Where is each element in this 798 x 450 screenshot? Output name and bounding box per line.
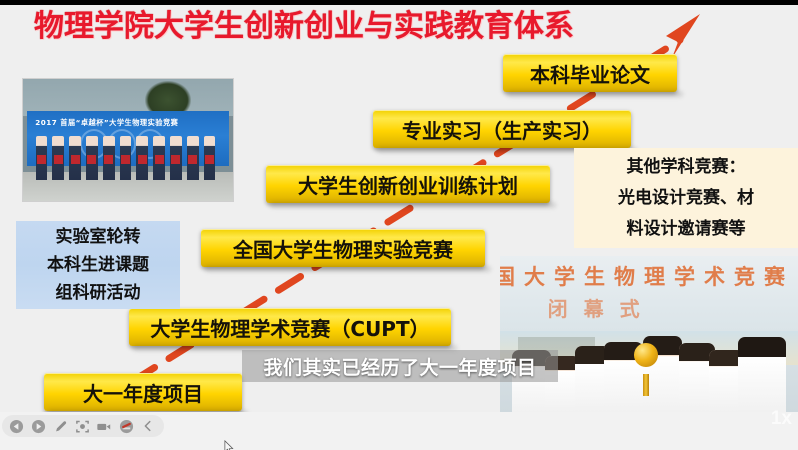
plaque-label: 大一年度项目	[83, 378, 203, 407]
photo-left-banner-text: 2017 首届“卓越杯”大学生物理实验竞赛	[35, 118, 220, 133]
pencil-icon[interactable]	[52, 418, 68, 434]
plaque-thesis[interactable]: 本科毕业论文	[503, 54, 677, 92]
previous-button[interactable]	[8, 418, 24, 434]
lab-box-line-2: 本科生进课题	[47, 251, 149, 279]
lab-box-line-1: 实验室轮转	[56, 223, 141, 251]
plaque-cupt[interactable]: 大学生物理学术竞赛（CUPT）	[129, 308, 451, 346]
photo-cupt-ceremony: 国大学生物理学术竞赛 闭幕式	[500, 256, 798, 412]
photo-person	[170, 136, 182, 180]
page-title: 物理学院大学生创新创业与实践教育体系	[34, 7, 634, 47]
slide-canvas: 物理学院大学生创新创业与实践教育体系 2017 首届“卓越杯”大学生物理实验竞赛	[0, 0, 798, 412]
photo-person	[187, 136, 199, 180]
plaque-label: 大学生物理学术竞赛（CUPT）	[150, 313, 429, 342]
letterbox-strip	[0, 0, 798, 5]
play-button[interactable]	[30, 418, 46, 434]
photo-experiment-competition: 2017 首届“卓越杯”大学生物理实验竞赛	[22, 78, 234, 202]
photo-person	[52, 136, 64, 180]
photo-person	[153, 136, 165, 180]
photo-right-banner-text2: 闭幕式	[548, 293, 656, 322]
trophy-icon	[634, 343, 658, 396]
photo-person	[204, 136, 216, 180]
other-box-line-3: 料设计邀请赛等	[627, 214, 746, 245]
photo-person	[103, 136, 115, 180]
photo-person	[738, 337, 786, 412]
other-box-line-2: 光电设计竞赛、材	[618, 183, 754, 214]
marker-circle-icon[interactable]	[118, 418, 134, 434]
mouse-cursor	[224, 440, 234, 450]
photo-person	[86, 136, 98, 180]
lab-box-line-3: 组科研活动	[56, 279, 141, 307]
photo-person	[69, 136, 81, 180]
player-toolbar	[2, 415, 164, 437]
photo-left-tree	[145, 81, 191, 113]
plaque-internship[interactable]: 专业实习（生产实习）	[373, 110, 631, 148]
photo-person	[136, 136, 148, 180]
plaque-national-physics-experiment[interactable]: 全国大学生物理实验竞赛	[201, 229, 485, 267]
plaque-training-plan[interactable]: 大学生创新创业训练计划	[266, 165, 550, 203]
plaque-label: 本科毕业论文	[530, 59, 650, 88]
focus-target-icon[interactable]	[74, 418, 90, 434]
video-camera-icon[interactable]	[96, 418, 112, 434]
lab-rotation-box[interactable]: 实验室轮转 本科生进课题 组科研活动	[16, 221, 180, 309]
playback-speed-label[interactable]: 1x	[771, 408, 792, 430]
other-box-line-1: 其他学科竞赛：	[627, 152, 746, 183]
other-competitions-box[interactable]: 其他学科竞赛： 光电设计竞赛、材 料设计邀请赛等	[574, 148, 798, 248]
video-player-stage: 物理学院大学生创新创业与实践教育体系 2017 首届“卓越杯”大学生物理实验竞赛	[0, 0, 798, 450]
plaque-label: 全国大学生物理实验竞赛	[233, 234, 453, 263]
plaque-label: 专业实习（生产实习）	[402, 115, 602, 144]
plaque-label: 大学生创新创业训练计划	[298, 170, 518, 199]
subtitle-caption: 我们其实已经历了大一年度项目	[242, 350, 558, 382]
chevron-left-icon[interactable]	[140, 418, 156, 434]
plaque-freshman-project[interactable]: 大一年度项目	[44, 373, 242, 411]
photo-person	[120, 136, 132, 180]
photo-person	[36, 136, 48, 180]
photo-right-banner-text: 国大学生物理学术竞赛	[500, 261, 798, 291]
